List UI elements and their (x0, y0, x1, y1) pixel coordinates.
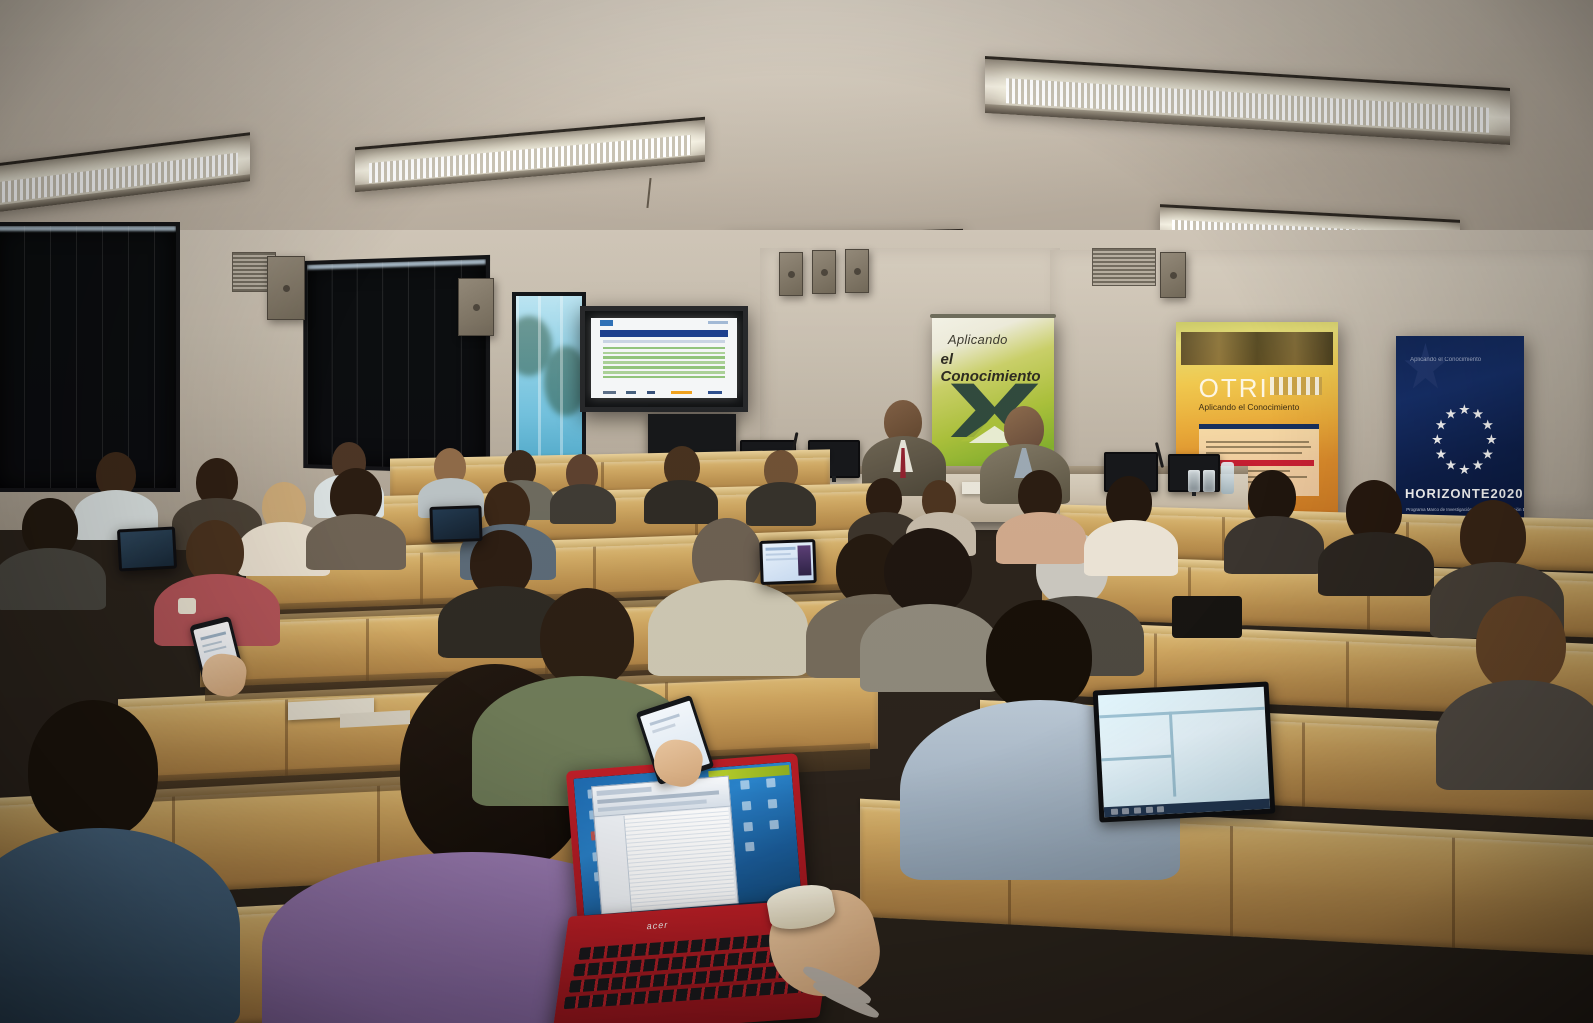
spreadsheet-grid (625, 808, 736, 913)
audience-body-4 (550, 484, 616, 524)
laptop-left-small-2[interactable] (429, 505, 482, 543)
laptop-left-small[interactable] (117, 527, 177, 572)
wall-speaker-1 (267, 256, 305, 320)
banner1-line1: Aplicando (948, 332, 1008, 347)
audience-body-14 (0, 548, 106, 610)
presentation-slide (591, 318, 736, 399)
audience-head-19-curly (884, 528, 972, 616)
cup-small-left (178, 598, 196, 614)
banner3-big-star-icon (1404, 343, 1448, 393)
audience-body-23 (1224, 516, 1324, 574)
projection-screen (580, 306, 748, 412)
wall-speaker-5 (845, 249, 869, 293)
banner3-title-main: HORIZONTE (1405, 486, 1491, 501)
lecture-hall-photo: Aplicando el Conocimiento Red O ada OTRI… (0, 0, 1593, 1023)
water-bottle (1221, 462, 1234, 494)
laptop-right-taskbar (1104, 799, 1270, 817)
water-glass-2 (1203, 470, 1215, 492)
wall-speaker-6 (1160, 252, 1186, 298)
wall-speaker-2 (458, 278, 494, 336)
banner3-top-text: Aplicando el Conocimiento (1410, 357, 1481, 363)
window-daylight (512, 292, 586, 470)
laptop-midleft[interactable] (759, 539, 817, 585)
banner2-title: OTRI (1199, 373, 1269, 404)
audience-body-26 (1436, 680, 1593, 790)
bag-right (1172, 596, 1242, 638)
eu-stars-circle-icon (1432, 407, 1493, 471)
audience-body-21 (996, 512, 1086, 564)
audience-body-6 (746, 482, 816, 526)
banner2-barcode (1270, 377, 1322, 395)
laptop-right-display (1098, 687, 1270, 818)
audience-body-12 (306, 514, 406, 570)
audience-body-19 (860, 604, 1000, 692)
ventilation-grille-right (1092, 248, 1156, 286)
banner1-pole (930, 314, 1056, 318)
window-left-blinds (0, 222, 180, 492)
wall-speaker-3 (779, 252, 803, 296)
banner3-title: HORIZONTE2020 (1405, 486, 1523, 501)
audience-head-27-laptop-user (986, 600, 1092, 712)
laptop-right[interactable] (1093, 681, 1276, 822)
audience-head-26 (1476, 596, 1566, 692)
wall-speaker-4 (812, 250, 836, 294)
audience-head-30-tablet-user (540, 588, 634, 688)
banner2-photo-strip (1181, 332, 1333, 365)
audience-body-22 (1084, 520, 1178, 576)
water-glass-1 (1188, 470, 1200, 492)
spreadsheet-window[interactable] (592, 776, 739, 919)
audience-body-24 (1318, 532, 1434, 596)
acer-brand-logo: acer (646, 920, 669, 932)
audience-body-5 (644, 480, 718, 524)
audience-head-29 (28, 700, 158, 840)
banner2-subtitle: Aplicando el Conocimiento (1199, 402, 1300, 412)
audience-body-17 (648, 580, 808, 676)
